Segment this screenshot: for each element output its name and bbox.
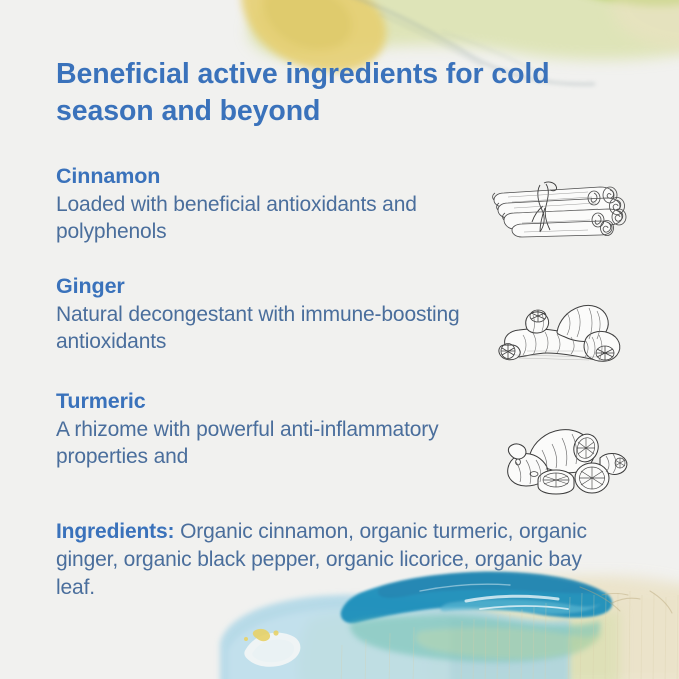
ingredient-name-cinnamon: Cinnamon	[56, 163, 476, 191]
ginger-root-illustration	[497, 299, 633, 367]
turmeric-root-illustration	[500, 418, 630, 496]
ingredient-block-ginger: Ginger Natural decongestant with immune-…	[56, 273, 476, 355]
ingredient-block-turmeric: Turmeric A rhizome with powerful anti-in…	[56, 388, 476, 470]
product-info-card: Beneficial active ingredients for cold s…	[0, 0, 679, 679]
ingredient-block-cinnamon: Cinnamon Loaded with beneficial antioxid…	[56, 163, 476, 245]
ingredient-name-turmeric: Turmeric	[56, 388, 476, 416]
page-title: Beneficial active ingredients for cold s…	[56, 56, 626, 130]
ingredient-name-ginger: Ginger	[56, 273, 476, 301]
cinnamon-sticks-illustration	[488, 172, 633, 244]
ingredient-description-cinnamon: Loaded with beneficial antioxidants and …	[56, 191, 476, 246]
ingredient-description-ginger: Natural decongestant with immune-boostin…	[56, 301, 476, 356]
ingredients-paragraph: Ingredients: Organic cinnamon, organic t…	[56, 518, 616, 602]
ingredient-description-turmeric: A rhizome with powerful anti-inflammator…	[56, 416, 476, 471]
ingredients-label: Ingredients:	[56, 520, 174, 543]
